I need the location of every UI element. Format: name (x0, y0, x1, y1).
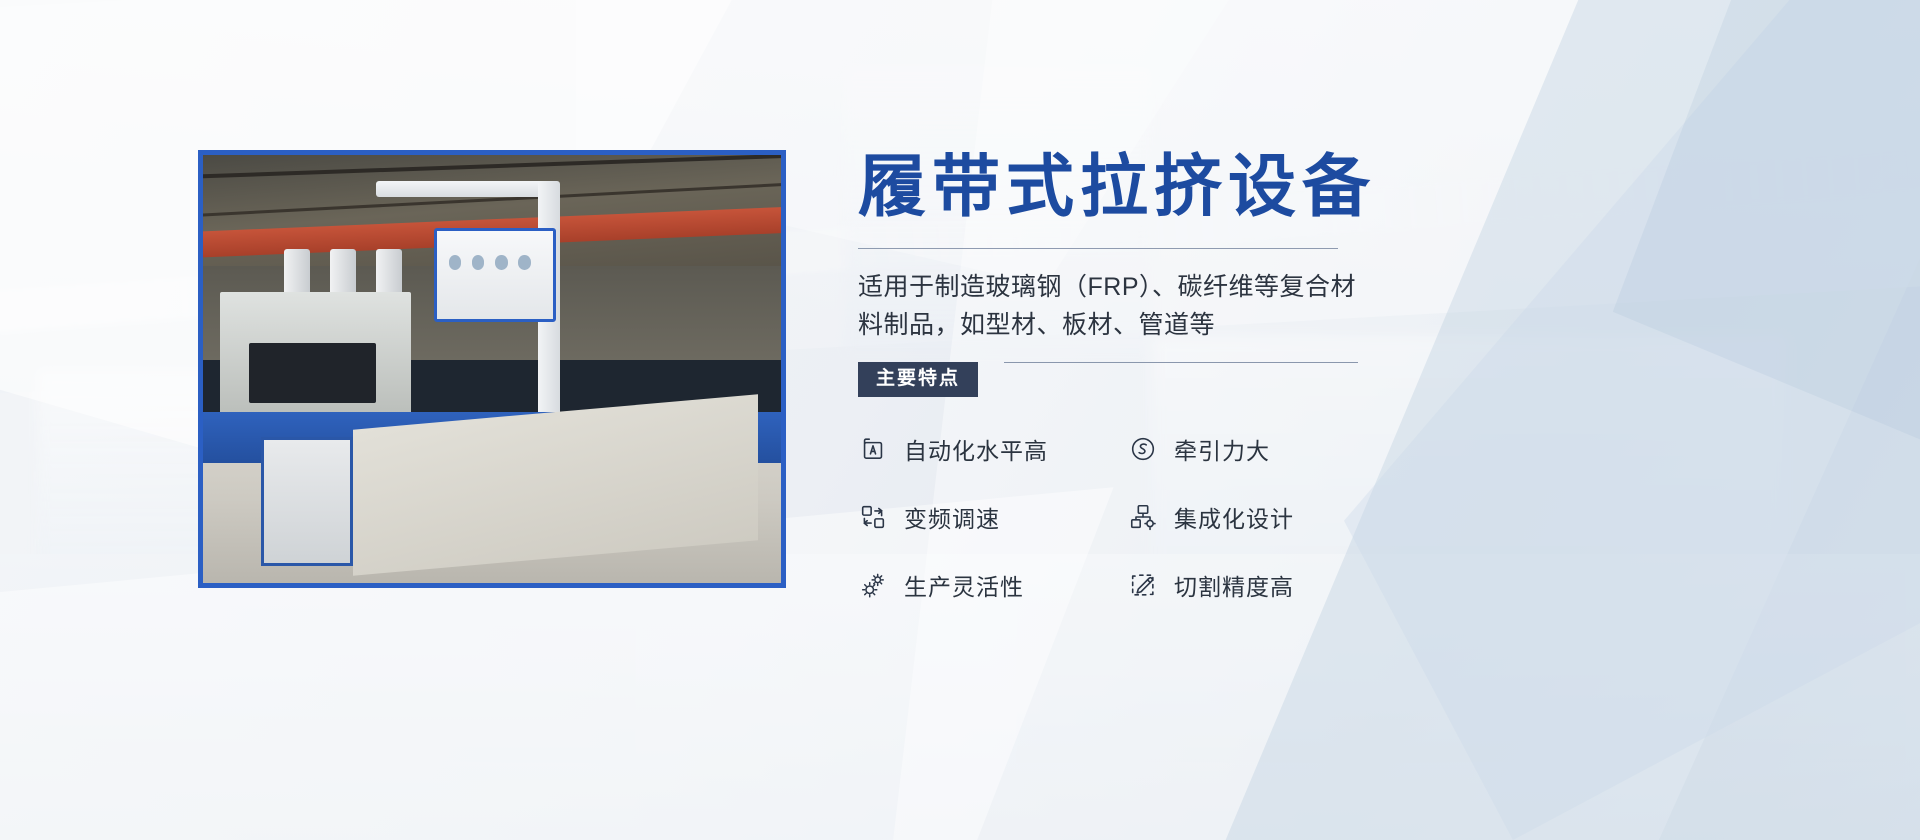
feature-item: 变频调速 (858, 500, 1128, 534)
automation-a-frame-icon (858, 434, 888, 464)
photo-control-panel (434, 228, 555, 322)
banner-content: 履带式拉挤设备 适用于制造玻璃钢（FRP）、碳纤维等复合材料制品，如型材、板材、… (858, 150, 1838, 602)
badge-divider (1004, 362, 1358, 363)
title-divider (858, 248, 1338, 249)
photo-gantry-arm (376, 181, 549, 197)
feature-label: 集成化设计 (1174, 500, 1294, 534)
feature-label: 变频调速 (904, 500, 1000, 534)
frequency-conversion-icon (858, 502, 888, 532)
gears-flexibility-icon (858, 570, 888, 600)
feature-label: 生产灵活性 (904, 568, 1024, 602)
cutting-precision-pen-icon (1128, 570, 1158, 600)
traction-spiral-icon (1128, 434, 1158, 464)
feature-item: 生产灵活性 (858, 568, 1128, 602)
product-photo-illustration (203, 155, 781, 583)
product-photo (198, 150, 786, 588)
feature-item: 切割精度高 (1128, 568, 1398, 602)
feature-label: 切割精度高 (1174, 568, 1294, 602)
feature-label: 牵引力大 (1174, 432, 1270, 466)
features-heading-row: 主要特点 (858, 362, 1358, 398)
product-banner: 履带式拉挤设备 适用于制造玻璃钢（FRP）、碳纤维等复合材料制品，如型材、板材、… (0, 0, 1920, 840)
photo-machine-window (249, 343, 376, 403)
integrated-design-icon (1128, 502, 1158, 532)
product-description: 适用于制造玻璃钢（FRP）、碳纤维等复合材料制品，如型材、板材、管道等 (858, 269, 1358, 344)
photo-cabinet-1 (261, 437, 353, 565)
feature-grid: 自动化水平高 牵引力大 (858, 432, 1418, 602)
page-title: 履带式拉挤设备 (858, 150, 1838, 226)
feature-item: 牵引力大 (1128, 432, 1398, 466)
feature-item: 自动化水平高 (858, 432, 1128, 466)
status-badge: 主要特点 (858, 362, 978, 397)
feature-item: 集成化设计 (1128, 500, 1398, 534)
feature-label: 自动化水平高 (904, 432, 1048, 466)
